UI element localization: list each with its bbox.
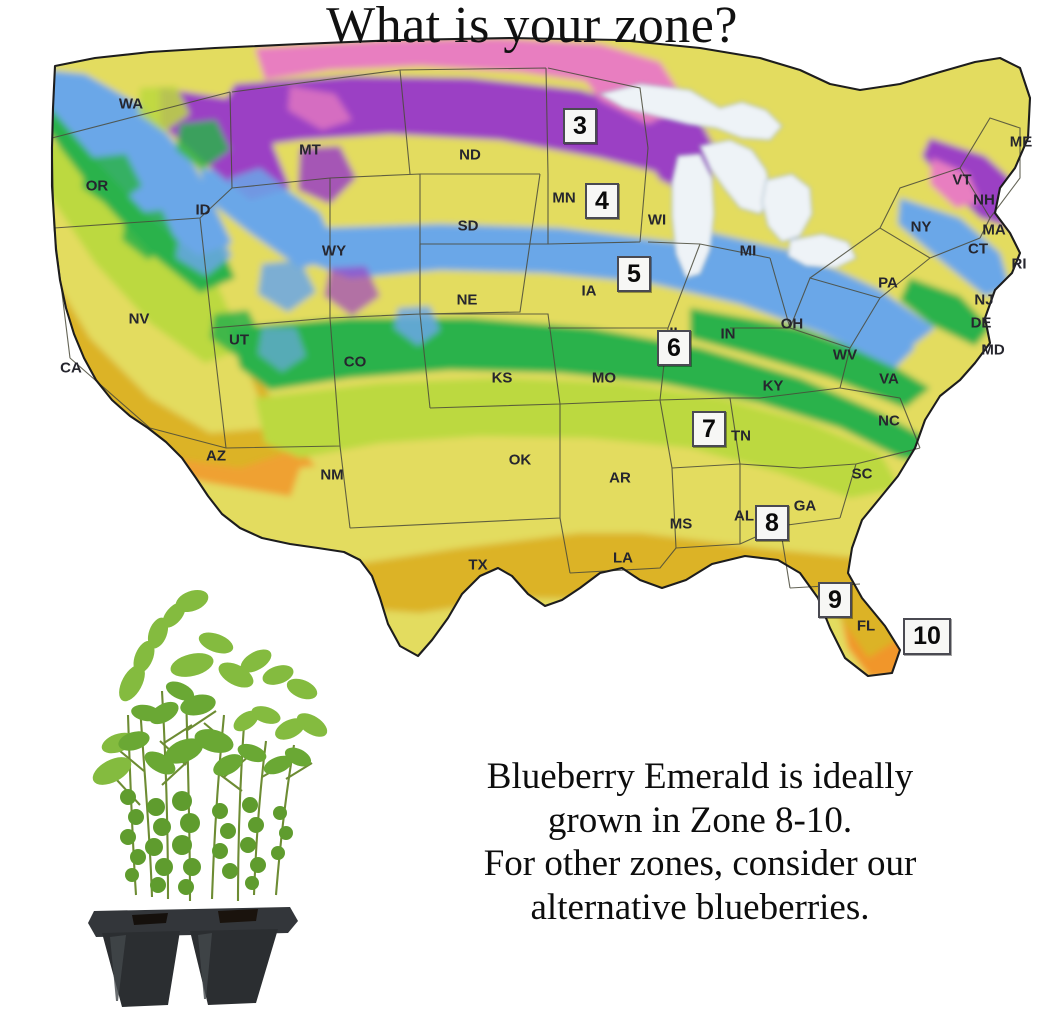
state-label-nj: NJ xyxy=(974,292,993,309)
state-label-wv: WV xyxy=(833,347,857,364)
zone-badge-8: 8 xyxy=(755,505,789,541)
state-label-ri: RI xyxy=(1012,256,1027,273)
zone-badge-4: 4 xyxy=(585,183,619,219)
caption-line-2: grown in Zone 8-10. xyxy=(360,799,1040,843)
state-label-ca: CA xyxy=(60,360,82,377)
state-label-ga: GA xyxy=(794,498,817,515)
zone-badge-6: 6 xyxy=(657,330,691,366)
state-label-mt: MT xyxy=(299,142,321,159)
state-label-in: IN xyxy=(721,326,736,343)
page-title: What is your zone? xyxy=(0,0,1064,55)
state-label-md: MD xyxy=(981,342,1004,359)
state-label-mi: MI xyxy=(740,243,757,260)
state-label-ks: KS xyxy=(492,370,513,387)
state-label-co: CO xyxy=(344,354,367,371)
plant-foliage xyxy=(116,691,312,901)
zone-badge-7: 7 xyxy=(692,411,726,447)
state-label-sd: SD xyxy=(458,218,479,235)
caption-block: Blueberry Emerald is ideally grown in Zo… xyxy=(360,755,1040,930)
state-label-me: ME xyxy=(1010,134,1033,151)
state-label-vt: VT xyxy=(952,172,971,189)
state-label-tx: TX xyxy=(468,557,487,574)
zone-infographic: What is your zone? xyxy=(0,0,1064,1010)
state-label-fl: FL xyxy=(857,618,875,635)
state-label-ny: NY xyxy=(911,219,932,236)
caption-line-1: Blueberry Emerald is ideally xyxy=(360,755,1040,799)
state-label-az: AZ xyxy=(206,448,226,465)
state-label-ct: CT xyxy=(968,241,988,258)
nursery-pots xyxy=(88,907,298,1007)
state-label-ne: NE xyxy=(457,292,478,309)
state-label-la: LA xyxy=(613,550,633,567)
state-label-wa: WA xyxy=(119,96,143,113)
state-label-al: AL xyxy=(734,508,754,525)
state-label-wi: WI xyxy=(648,212,666,229)
state-label-nm: NM xyxy=(320,467,343,484)
state-label-sc: SC xyxy=(852,466,873,483)
zone-badge-9: 9 xyxy=(818,582,852,618)
state-label-mo: MO xyxy=(592,370,616,387)
caption-line-3: For other zones, consider our xyxy=(360,842,1040,886)
state-label-nc: NC xyxy=(878,413,900,430)
zone-badge-10: 10 xyxy=(903,618,951,655)
state-label-mn: MN xyxy=(552,190,575,207)
state-label-pa: PA xyxy=(878,275,898,292)
state-label-ok: OK xyxy=(509,452,532,469)
state-label-ky: KY xyxy=(763,378,784,395)
zone-badge-3: 3 xyxy=(563,108,597,144)
state-label-id: ID xyxy=(196,202,211,219)
state-label-tn: TN xyxy=(731,428,751,445)
state-label-nv: NV xyxy=(129,311,150,328)
caption-line-4: alternative blueberries. xyxy=(360,886,1040,930)
state-label-de: DE xyxy=(971,315,992,332)
state-label-ut: UT xyxy=(229,332,249,349)
state-label-ma: MA xyxy=(982,222,1005,239)
state-label-nh: NH xyxy=(973,192,995,209)
state-label-nd: ND xyxy=(459,147,481,164)
state-label-or: OR xyxy=(86,178,109,195)
blueberry-plant-photo xyxy=(40,565,340,1010)
state-label-va: VA xyxy=(879,371,899,388)
state-label-wy: WY xyxy=(322,243,346,260)
state-label-ms: MS xyxy=(670,516,693,533)
state-label-oh: OH xyxy=(781,316,804,333)
state-label-ia: IA xyxy=(582,283,597,300)
plant-leaves xyxy=(88,586,331,895)
state-label-ar: AR xyxy=(609,470,631,487)
zone-badge-5: 5 xyxy=(617,256,651,292)
